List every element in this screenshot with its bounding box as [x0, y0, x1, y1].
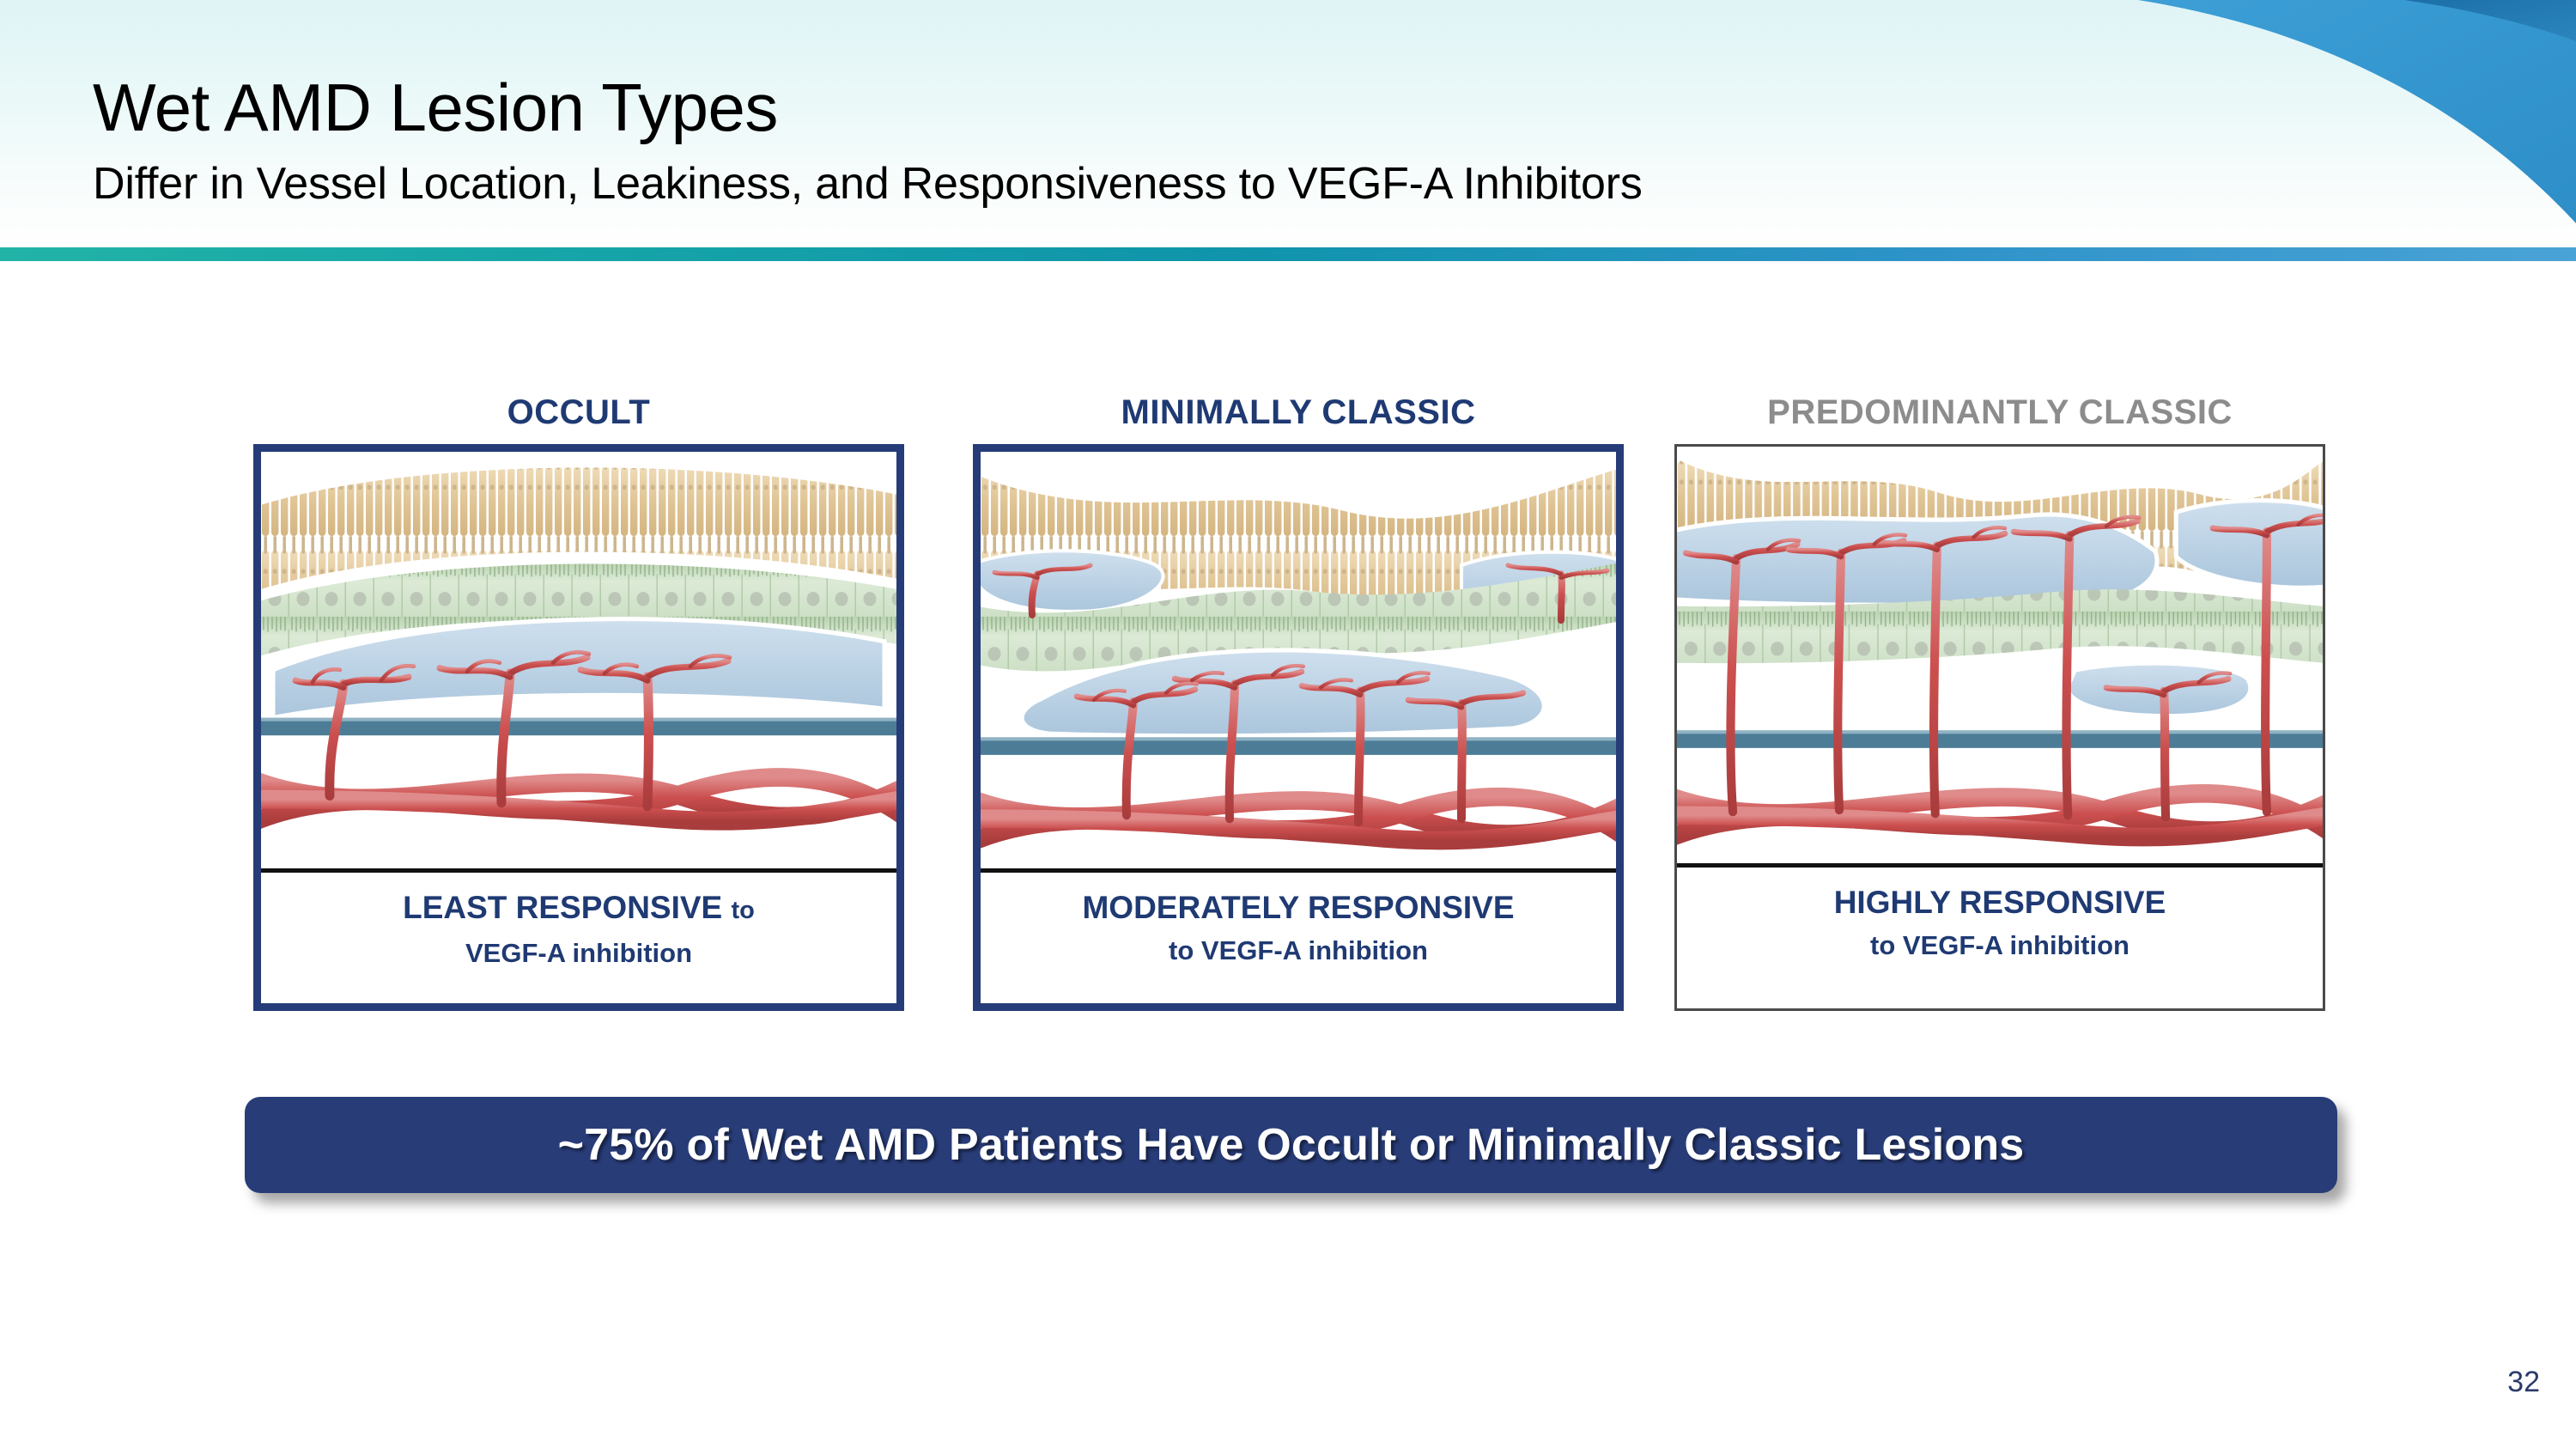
panel-divider-minimally-classic: [981, 868, 1616, 873]
lesion-type-panels: OCCULT: [0, 391, 2576, 1044]
header-swoosh-decoration: [1923, 0, 2576, 247]
panel-caption-occult: LEAST RESPONSIVE to VEGF-A inhibition: [261, 886, 896, 974]
caption-secondary-occult: VEGF-A inhibition: [261, 933, 896, 974]
summary-banner: ~75% of Wet AMD Patients Have Occult or …: [245, 1097, 2337, 1193]
summary-banner-text: ~75% of Wet AMD Patients Have Occult or …: [558, 1119, 2025, 1171]
header-divider-rule: [0, 247, 2576, 261]
caption-secondary-minimally-classic: to VEGF-A inhibition: [981, 930, 1616, 971]
page-title: Wet AMD Lesion Types: [93, 69, 778, 147]
panel-predominantly-classic: PREDOMINANTLY CLASSIC: [1674, 391, 2325, 1011]
caption-primary-minimally-classic: MODERATELY RESPONSIVE: [981, 886, 1616, 930]
panel-minimally-classic: MINIMALLY CLASSIC: [973, 391, 1624, 1011]
panel-caption-minimally-classic: MODERATELY RESPONSIVE to VEGF-A inhibiti…: [981, 886, 1616, 971]
panel-divider-predominantly-classic: [1677, 863, 2323, 868]
caption-to-occult: to: [732, 897, 755, 924]
panel-title-occult: OCCULT: [253, 391, 904, 444]
caption-primary-occult: LEAST RESPONSIVE: [403, 890, 722, 925]
panel-title-predominantly-classic: PREDOMINANTLY CLASSIC: [1674, 391, 2325, 444]
slide-header: Wet AMD Lesion Types Differ in Vessel Lo…: [0, 0, 2576, 247]
retina-illustration-occult: [261, 452, 896, 868]
panel-title-minimally-classic: MINIMALLY CLASSIC: [973, 391, 1624, 444]
page-subtitle: Differ in Vessel Location, Leakiness, an…: [93, 158, 1643, 210]
panel-occult: OCCULT: [253, 391, 904, 1011]
caption-primary-predominantly-classic: HIGHLY RESPONSIVE: [1677, 880, 2323, 925]
panel-divider-occult: [261, 868, 896, 873]
page-number: 32: [2507, 1366, 2540, 1399]
panel-box-minimally-classic: MODERATELY RESPONSIVE to VEGF-A inhibiti…: [973, 444, 1624, 1011]
panel-box-predominantly-classic: HIGHLY RESPONSIVE to VEGF-A inhibition: [1674, 444, 2325, 1011]
panel-caption-predominantly-classic: HIGHLY RESPONSIVE to VEGF-A inhibition: [1677, 880, 2323, 966]
retina-illustration-minimally-classic: [981, 452, 1616, 868]
panel-box-occult: LEAST RESPONSIVE to VEGF-A inhibition: [253, 444, 904, 1011]
retina-illustration-predominantly-classic: [1677, 447, 2323, 863]
caption-secondary-predominantly-classic: to VEGF-A inhibition: [1677, 925, 2323, 966]
